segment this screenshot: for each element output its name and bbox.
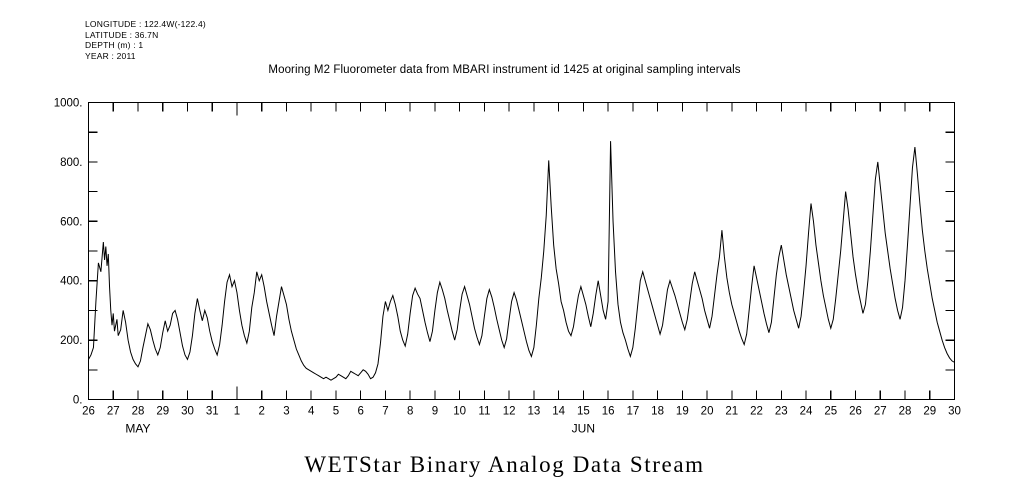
- x-tick-label: 28: [899, 406, 912, 418]
- x-tick-label: 13: [527, 406, 540, 418]
- x-tick-label: 26: [82, 406, 95, 418]
- x-tick-label: 7: [382, 406, 388, 418]
- x-tick-label: 21: [725, 406, 738, 418]
- x-tick-label: 27: [874, 406, 887, 418]
- figure-caption: WETStar Binary Analog Data Stream: [0, 452, 1009, 478]
- x-tick-label: 6: [357, 406, 363, 418]
- x-tick-label: 25: [824, 406, 837, 418]
- chart-page: LONGITUDE : 122.4W(-122.4) LATITUDE : 36…: [0, 0, 1009, 504]
- x-axis-labels: 2627282930311234567891011121314151617181…: [82, 406, 961, 418]
- x-tick-label: 11: [478, 406, 490, 418]
- x-tick-label: 26: [849, 406, 862, 418]
- x-tick-label: 4: [308, 406, 315, 418]
- x-tick-label: 3: [283, 406, 289, 418]
- x-tick-label: 1: [234, 406, 240, 418]
- x-tick-label: 15: [577, 406, 590, 418]
- x-tick-label: 10: [453, 406, 466, 418]
- x-tick-label: 28: [132, 406, 145, 418]
- x-tick-label: 27: [107, 406, 120, 418]
- y-tick-label: 0.: [73, 395, 83, 407]
- x-tick-label: 30: [181, 406, 194, 418]
- x-tick-label: 9: [432, 406, 438, 418]
- y-axis-ticks: [89, 103, 955, 400]
- chart-axes: [89, 103, 955, 400]
- month-label: JUN: [572, 422, 595, 436]
- y-tick-label: 200.: [60, 335, 82, 347]
- plot-frame: [89, 103, 955, 400]
- y-tick-label: 400.: [60, 276, 82, 288]
- x-tick-label: 5: [333, 406, 339, 418]
- y-tick-label: 1000.: [54, 98, 83, 110]
- x-tick-label: 8: [407, 406, 413, 418]
- y-tick-label: 800.: [60, 157, 82, 169]
- x-tick-label: 29: [156, 406, 169, 418]
- y-tick-label: 600.: [60, 216, 82, 228]
- data-series: [89, 141, 955, 380]
- x-tick-label: 24: [800, 406, 813, 418]
- x-tick-label: 14: [552, 406, 565, 418]
- x-tick-label: 2: [258, 406, 264, 418]
- x-tick-label: 20: [701, 406, 714, 418]
- month-label: MAY: [125, 422, 150, 436]
- series-line: [89, 141, 955, 380]
- x-tick-label: 29: [923, 406, 936, 418]
- x-tick-label: 12: [503, 406, 516, 418]
- x-tick-label: 31: [206, 406, 219, 418]
- chart-plot: 0.200.400.600.800.1000. 2627282930311234…: [0, 0, 1009, 504]
- x-tick-label: 22: [750, 406, 763, 418]
- x-tick-label: 19: [676, 406, 689, 418]
- x-axis-ticks: [89, 103, 955, 400]
- x-tick-label: 16: [602, 406, 615, 418]
- x-tick-label: 23: [775, 406, 788, 418]
- x-tick-label: 18: [651, 406, 664, 418]
- month-labels: MAYJUN: [125, 422, 595, 436]
- x-tick-label: 30: [948, 406, 961, 418]
- y-axis-labels: 0.200.400.600.800.1000.: [54, 98, 83, 407]
- x-tick-label: 17: [626, 406, 639, 418]
